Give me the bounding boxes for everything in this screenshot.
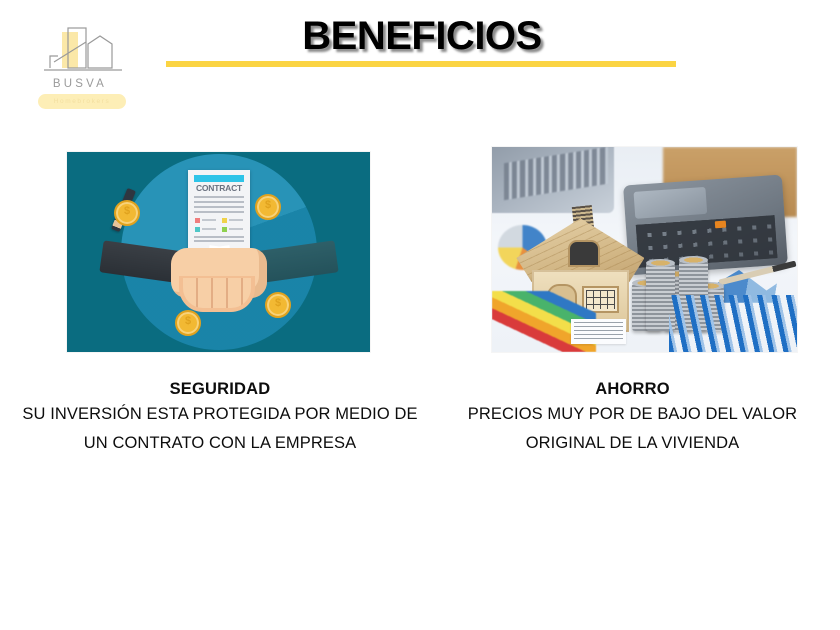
coin-icon: $ bbox=[265, 292, 291, 318]
printed-note bbox=[571, 319, 626, 344]
coin-icon: $ bbox=[175, 310, 201, 336]
slide-canvas: BUSVA Homebrokers BENEFICIOS CONTRACT bbox=[0, 0, 840, 630]
house-model-savings-photo bbox=[492, 147, 797, 352]
contract-header-bar bbox=[194, 175, 244, 182]
contract-label: CONTRACT bbox=[188, 183, 250, 193]
benefit-description: SU INVERSIÓN ESTA PROTEGIDA POR MEDIO DE… bbox=[20, 400, 420, 458]
coin-icon: $ bbox=[255, 194, 281, 220]
two-buildings-outline-icon bbox=[26, 26, 134, 82]
coin-icon: $ bbox=[114, 200, 140, 226]
benefit-heading: AHORRO bbox=[445, 378, 820, 400]
brand-name: BUSVA bbox=[26, 78, 134, 90]
photo-scene bbox=[492, 147, 797, 352]
benefit-heading: SEGURIDAD bbox=[20, 378, 420, 400]
benefit-caption-seguridad: SEGURIDAD SU INVERSIÓN ESTA PROTEGIDA PO… bbox=[20, 378, 420, 458]
brand-logo: BUSVA Homebrokers bbox=[26, 26, 134, 106]
handshake-contract-illustration: CONTRACT $ $ $ $ bbox=[67, 152, 370, 352]
brand-tagline: Homebrokers bbox=[38, 95, 126, 108]
benefit-card-ahorro: AHORRO PRECIOS MUY POR DE BAJO DEL VALOR… bbox=[445, 145, 820, 458]
calculator-orange-key bbox=[715, 221, 727, 228]
title-underline-rule bbox=[166, 61, 676, 67]
bar-chart-paper bbox=[669, 295, 797, 352]
contract-document-icon: CONTRACT bbox=[188, 170, 250, 248]
handshake-fingers bbox=[179, 276, 255, 312]
page-title: BENEFICIOS bbox=[166, 12, 678, 60]
house-attic-window bbox=[568, 240, 600, 266]
benefit-card-seguridad: CONTRACT $ $ $ $ bbox=[20, 145, 420, 458]
benefit-caption-ahorro: AHORRO PRECIOS MUY POR DE BAJO DEL VALOR… bbox=[445, 378, 820, 458]
benefit-description: PRECIOS MUY POR DE BAJO DEL VALOR ORIGIN… bbox=[445, 400, 820, 458]
